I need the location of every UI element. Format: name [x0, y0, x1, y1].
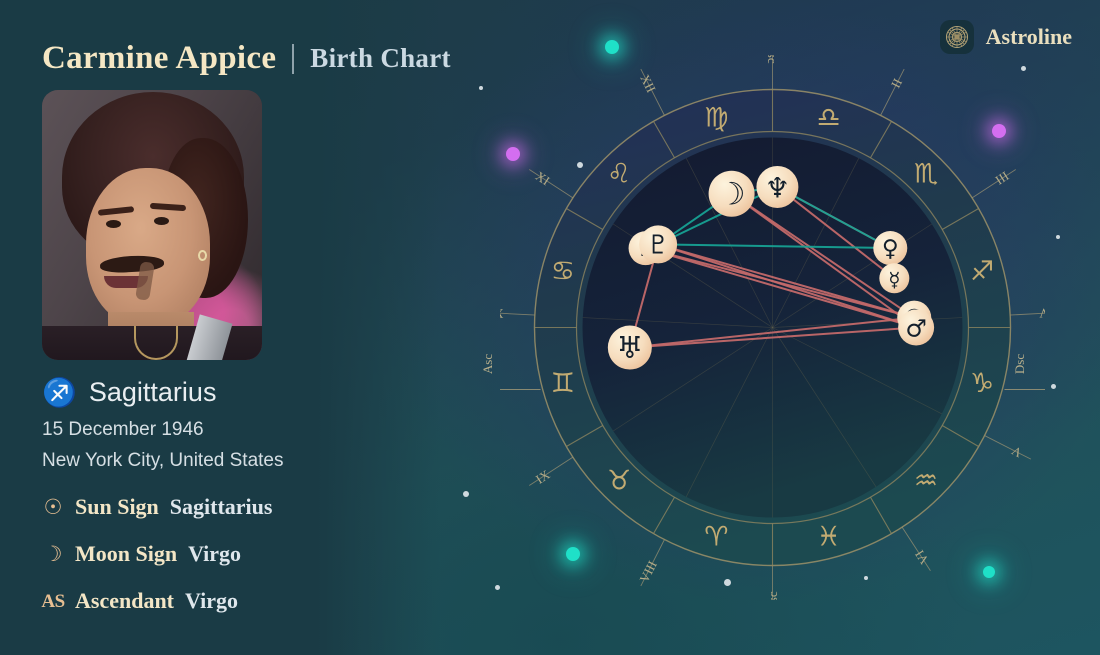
moon-icon: ☽ [42, 542, 64, 566]
zodiac-sign-sagittarius: ♐ [970, 256, 994, 287]
fact-sun-sign: ☉ Sun Sign Sagittarius [42, 494, 272, 520]
zodiac-sign-aquarius: ♒ [914, 465, 938, 496]
person-name: Carmine Appice [42, 40, 276, 77]
ascendant-icon: AS [42, 589, 64, 613]
planet-mars[interactable]: ♂ [898, 310, 934, 346]
fact-value: Sagittarius [170, 494, 273, 520]
descendant-label: Dsc [1012, 353, 1028, 373]
star [463, 491, 469, 497]
fact-label: Ascendant [75, 588, 174, 614]
birth-place: New York City, United States [42, 450, 283, 472]
birth-chart-wheel[interactable]: ♋♌♍♎♏♐♑♒♓♈♉♊XXIXIIAscIIIIIIVVVIDscVIIIIX… [500, 55, 1045, 600]
zodiac-sign-gemini: ♊ [551, 368, 575, 399]
brand-logo[interactable]: Astroline [940, 20, 1072, 54]
fact-value: Virgo [188, 541, 241, 567]
fact-moon-sign: ☽ Moon Sign Virgo [42, 541, 241, 567]
ascendant-label: Asc [480, 353, 496, 373]
fact-value: Virgo [185, 588, 238, 614]
svg-text:♅: ♅ [616, 331, 643, 366]
svg-text:♂: ♂ [905, 315, 927, 343]
page-title: Carmine Appice Birth Chart [42, 40, 451, 77]
house-V: V [1009, 443, 1025, 461]
house-IX: IX [533, 466, 553, 486]
page-background: ♋♌♍♎♏♐♑♒♓♈♉♊XXIXIIAscIIIIIIVVVIDscVIIIIX… [0, 0, 1100, 655]
page-subtitle: Birth Chart [310, 43, 451, 74]
house-XII: XII [637, 72, 659, 95]
birth-date: 15 December 1946 [42, 419, 204, 441]
house-II: II [888, 76, 905, 91]
house-VI: VI [912, 547, 932, 567]
zodiac-sign-libra: ♎ [817, 102, 841, 133]
title-divider [292, 44, 294, 74]
svg-text:♀: ♀ [882, 236, 899, 262]
svg-text:☽: ☽ [718, 177, 746, 213]
zodiac-sign-aries: ♈ [704, 522, 728, 553]
zodiac-sign-scorpio: ♏ [914, 159, 938, 190]
house-IV: IV [1038, 305, 1045, 321]
zodiac-sign-pisces: ♓ [817, 522, 841, 553]
house-Asc: Asc [765, 55, 780, 64]
svg-text:☿: ☿ [888, 267, 900, 291]
brand-name: Astroline [986, 24, 1072, 50]
star [1051, 384, 1056, 389]
sun-sign-headline: ♐ Sagittarius [42, 377, 216, 408]
planet-moon[interactable]: ☽ [709, 171, 755, 217]
planet-uranus[interactable]: ♅ [608, 326, 652, 370]
sun-icon: ☉ [42, 495, 64, 519]
star [495, 585, 500, 590]
zodiac-sign-taurus: ♉ [607, 465, 631, 496]
zodiac-sign-virgo: ♍ [704, 102, 728, 133]
planet-mercury[interactable]: ☿ [879, 263, 909, 293]
svg-text:♆: ♆ [765, 171, 790, 204]
planet-venus[interactable]: ♀ [873, 231, 907, 265]
house-III: III [993, 168, 1012, 188]
house-Dsc: Dsc [765, 591, 780, 600]
star [479, 86, 483, 90]
chart-svg: ♋♌♍♎♏♐♑♒♓♈♉♊XXIXIIAscIIIIIIVVVIDscVIIIIX… [500, 55, 1045, 600]
fact-label: Sun Sign [75, 494, 159, 520]
planet-neptune[interactable]: ♆ [756, 166, 798, 208]
fact-ascendant: AS Ascendant Virgo [42, 588, 238, 614]
planet-pluto[interactable]: ♇ [639, 225, 677, 263]
fact-label: Moon Sign [75, 541, 177, 567]
zodiac-sign-cancer: ♋ [551, 256, 575, 287]
house-VIII: VIII [636, 558, 660, 585]
info-panel: Carmine Appice Birth Chart ♐ Sagittarius… [42, 0, 462, 655]
svg-text:♇: ♇ [646, 230, 669, 260]
sun-sign-name: Sagittarius [89, 377, 217, 408]
zodiac-sign-capricorn: ♑ [970, 368, 994, 399]
sagittarius-icon: ♐ [42, 379, 77, 407]
star [1056, 235, 1060, 239]
portrait-photo [42, 90, 262, 360]
house-XI: XI [533, 168, 553, 188]
zodiac-sign-leo: ♌ [607, 159, 631, 190]
astroline-wheel-icon [940, 20, 974, 54]
star [605, 40, 619, 54]
